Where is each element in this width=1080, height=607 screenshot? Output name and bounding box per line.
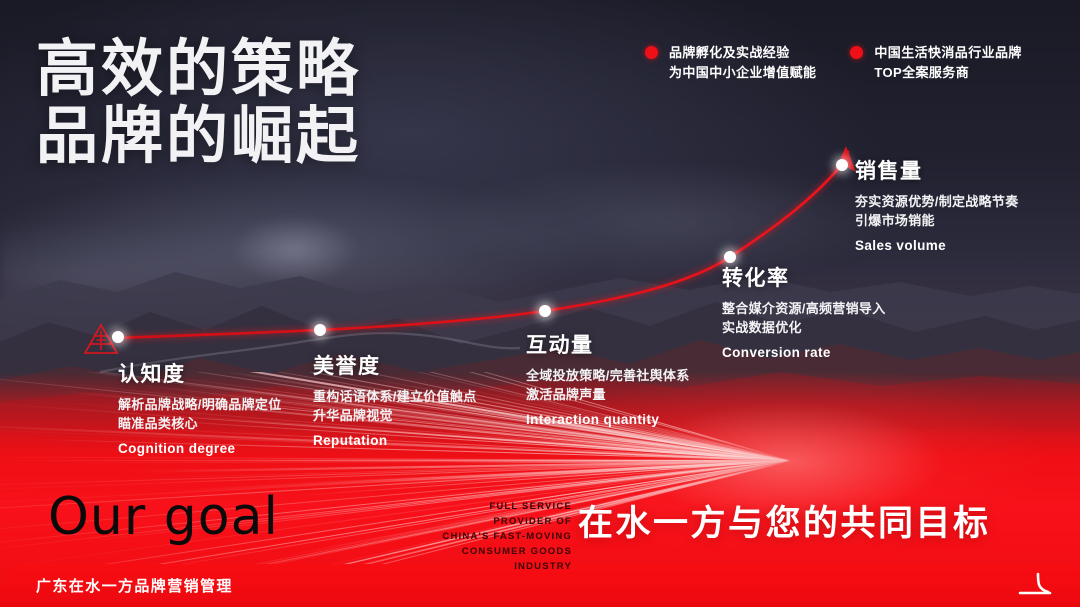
brand-mark-icon [1008,572,1054,598]
badge-incubation: 品牌孵化及实战经验 为中国中小企业增值赋能 [645,43,816,83]
milestone-cognition-title: 认知度 [118,358,282,388]
badge-incubation-text: 品牌孵化及实战经验 为中国中小企业增值赋能 [669,43,816,83]
milestone-conversion-en: Conversion rate [722,345,886,360]
our-goal-title: Our goal [48,487,279,547]
page-title: 高效的策略 品牌的崛起 [36,36,361,170]
our-goal-tagline-line1: FULL SERVICE PROVIDER OF [440,499,572,529]
milestone-cognition-desc2: 瞄准品类核心 [118,414,282,433]
milestone-conversion-desc1: 整合媒介资源/高频营销导入 [722,299,886,318]
bullet-dot-icon [850,46,863,59]
headline-line-2: 品牌的崛起 [36,103,361,170]
footer-company-name: 广东在水一方品牌营销管理 [36,575,233,596]
milestone-sales-desc2: 引爆市场销能 [855,211,1019,230]
bullet-dot-icon [645,46,658,59]
our-goal-tagline: FULL SERVICE PROVIDER OF CHINA'S FAST-MO… [440,499,572,574]
milestone-sales: 销售量 夯实资源优势/制定战略节奏 引爆市场销能 Sales volume [855,155,1019,253]
milestone-reputation-desc2: 升华品牌视觉 [313,406,477,425]
badge-top-service-line2: TOP全案服务商 [874,65,969,80]
milestone-interaction-desc1: 全域投放策略/完善社舆体系 [526,366,690,385]
milestone-reputation: 美誉度 重构话语体系/建立价值触点 升华品牌视觉 Reputation [313,350,477,448]
badge-top-service-text: 中国生活快消品行业品牌 TOP全案服务商 [874,43,1021,83]
our-goal-tagline-line3: CONSUMER GOODS INDUSTRY [440,544,572,574]
pyramid-logo-icon [82,322,120,356]
milestone-reputation-title: 美誉度 [313,350,477,380]
our-goal-title-cn: 在水一方与您的共同目标 [578,495,991,546]
badge-top-service: 中国生活快消品行业品牌 TOP全案服务商 [850,43,1021,83]
milestone-sales-title: 销售量 [855,155,1019,185]
milestone-reputation-desc1: 重构话语体系/建立价值触点 [313,387,477,406]
milestone-reputation-en: Reputation [313,433,477,448]
milestone-interaction-title: 互动量 [526,329,690,359]
milestone-cognition-en: Cognition degree [118,441,282,456]
milestone-interaction: 互动量 全域投放策略/完善社舆体系 激活品牌声量 Interaction qua… [526,329,690,427]
milestone-cognition-desc1: 解析品牌战略/明确品牌定位 [118,395,282,414]
top-badges: 品牌孵化及实战经验 为中国中小企业增值赋能 中国生活快消品行业品牌 TOP全案服… [645,43,1022,83]
badge-top-service-line1: 中国生活快消品行业品牌 [874,45,1021,60]
milestone-sales-en: Sales volume [855,238,1019,253]
our-goal-tagline-line2: CHINA'S FAST-MOVING [440,529,572,544]
milestone-conversion-title: 转化率 [722,262,886,292]
headline-line-1: 高效的策略 [36,36,361,103]
milestone-cognition: 认知度 解析品牌战略/明确品牌定位 瞄准品类核心 Cognition degre… [118,358,282,456]
milestone-interaction-desc2: 激活品牌声量 [526,385,690,404]
milestone-sales-desc1: 夯实资源优势/制定战略节奏 [855,192,1019,211]
badge-incubation-line1: 品牌孵化及实战经验 [669,45,790,60]
milestone-conversion: 转化率 整合媒介资源/高频营销导入 实战数据优化 Conversion rate [722,262,886,360]
milestone-conversion-desc2: 实战数据优化 [722,318,886,337]
milestone-interaction-en: Interaction quantity [526,412,690,427]
slide-canvas: 广东在水一方品牌营销管理 高效的策略 品牌的崛起 品牌孵化及实战经验 为中国中小… [0,0,1080,607]
badge-incubation-line2: 为中国中小企业增值赋能 [669,65,816,80]
